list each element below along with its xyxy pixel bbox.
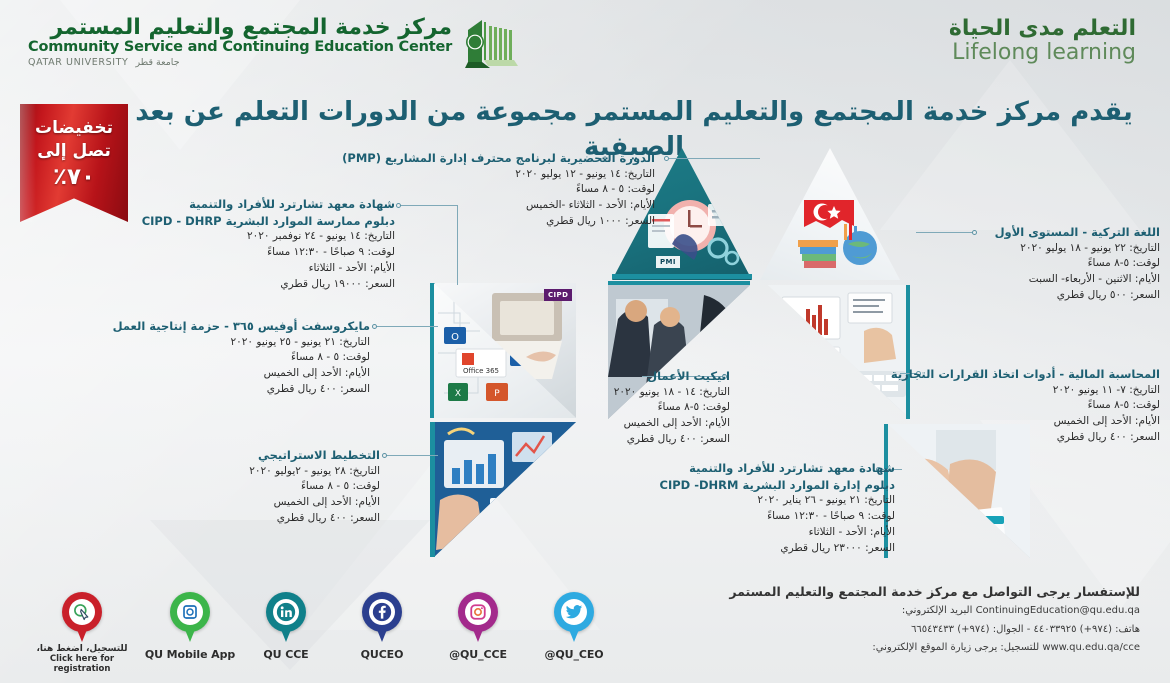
course-block-office365: مايكروسفت أوفيس ٣٦٥ - حزمة إنتاجية العمل… — [113, 318, 370, 398]
contact-email-label: البريد الإلكتروني: — [902, 605, 972, 616]
course-price: السعر: ٥٠٠ ريال قطري — [995, 288, 1160, 304]
social-label: @QU_CEO — [526, 648, 622, 661]
poster-root: مركز خدمة المجتمع والتعليم المستمر Commu… — [0, 0, 1170, 683]
social-twitter[interactable]: @QU_CEO — [526, 592, 622, 674]
logo-university-en: QATAR UNIVERSITY — [28, 57, 128, 68]
svg-text:O: O — [451, 332, 459, 343]
social-instagram[interactable]: @QU_CCE — [430, 592, 526, 674]
social-label: QU Mobile App — [142, 648, 238, 661]
linkedin-pin[interactable] — [266, 592, 306, 644]
course-title: شهادة معهد تشارترد للأفراد والتنمية — [660, 460, 895, 477]
course-date: التاريخ: ٢٨ يونيو - ٢يوليو ٢٠٢٠ — [249, 464, 380, 480]
course-block-cipd-dhrp: شهادة معهد تشارترد للأفراد والتنمية دبلو… — [142, 196, 395, 292]
social-facebook[interactable]: QUCEO — [334, 592, 430, 674]
etiquette-edge — [608, 281, 750, 285]
course-price: السعر: ٢٣٠٠٠ ريال قطري — [660, 541, 895, 557]
ribbon-text: تخفيضات تصل إلى ٧٠٪ — [20, 104, 128, 222]
course-title: اللغة التركية - المستوى الأول — [995, 224, 1160, 241]
pin-tail — [74, 622, 90, 642]
pin-tail — [566, 622, 582, 642]
facebook-icon — [369, 599, 395, 625]
click-cursor-icon — [69, 599, 95, 625]
logo-university: QATAR UNIVERSITY جامعة قطر — [28, 57, 452, 68]
course-title: مايكروسفت أوفيس ٣٦٥ - حزمة إنتاجية العمل — [113, 318, 370, 335]
social-label: QUCEO — [334, 648, 430, 661]
twitter-icon — [561, 599, 587, 625]
logo-english-name: Community Service and Continuing Educati… — [28, 39, 452, 56]
footer-contact: للإستفسار يرجى التواصل مع مركز خدمة المج… — [729, 582, 1140, 658]
contact-web-label: للتسجيل: يرجى زيارة الموقع الإلكتروني: — [872, 642, 1039, 653]
course-days: الأيام: الأحد إلى الخميس — [113, 366, 370, 382]
pmp-image-edge — [612, 274, 752, 279]
logo-university-ar: جامعة قطر — [135, 57, 179, 68]
social-mobile-app[interactable]: QU Mobile App — [142, 592, 238, 674]
course-title: الدورة التحضيرية لبرنامج محترف إدارة الم… — [342, 150, 655, 167]
course-price: السعر: ٤٠٠ ريال قطري — [614, 432, 730, 448]
ribbon-line-3: ٧٠٪ — [53, 164, 95, 190]
pin-tail — [182, 622, 198, 642]
course-image-turkish — [760, 148, 900, 280]
course-subtitle: دبلوم إدارة الموارد البشرية CIPD -DHRM — [660, 477, 895, 494]
course-title: شهادة معهد تشارترد للأفراد والتنمية — [142, 196, 395, 213]
lifelong-learning-tagline: التعلم مدى الحياة Lifelong learning — [949, 16, 1136, 65]
mobile-app-pin[interactable] — [170, 592, 210, 644]
course-date: التاريخ: ١٤ يونيو - ١٢ يوليو ٢٠٢٠ — [342, 167, 655, 183]
pin-tail — [470, 622, 486, 642]
course-date: التاريخ: ١٤ يونيو - ٢٤ نوفمبر ٢٠٢٠ — [142, 229, 395, 245]
pmi-badge: PMI — [656, 256, 680, 268]
registration-pin[interactable] — [62, 592, 102, 644]
course-date: التاريخ: ٢٢ يونيو - ١٨ يوليو ٢٠٢٠ — [995, 241, 1160, 257]
course-block-etiquette: اتيكيت الأعمال التاريخ: ١٤ - ١٨ يونيو ٢٠… — [614, 368, 730, 448]
svg-text:P: P — [494, 389, 500, 399]
lifelong-english: Lifelong learning — [949, 41, 1136, 65]
connector-dot-turkish — [972, 230, 977, 235]
social-label: @QU_CCE — [430, 648, 526, 661]
course-date: التاريخ: ٢١ يونيو - ٢٥ يونيو ٢٠٢٠ — [113, 335, 370, 351]
course-block-cipd-dhrm: شهادة معهد تشارترد للأفراد والتنمية دبلو… — [660, 460, 895, 556]
course-time: لوقت: ٩ صباحًا - ١٢:٣٠ مساءً — [142, 245, 395, 261]
ribbon-line-2: تصل إلى — [37, 141, 111, 161]
instagram-icon — [465, 599, 491, 625]
svg-text:Office 365: Office 365 — [463, 367, 499, 375]
course-image-finance — [768, 285, 910, 419]
contact-email[interactable]: ContinuingEducation@qu.edu.qa — [976, 605, 1140, 616]
registration-link[interactable]: للتسجيل، اضغط هنا، Click here for regist… — [22, 592, 142, 674]
course-image-strategic — [434, 422, 576, 557]
cipd-badge: CIPD — [544, 289, 572, 301]
instagram-pin[interactable] — [458, 592, 498, 644]
course-price: السعر: ٤٠٠ ريال قطري — [113, 382, 370, 398]
connector-office365 — [376, 326, 438, 327]
social-links: @QU_CEO @QU_CCE — [22, 592, 622, 674]
course-days: الأيام: الاثنين - الأربعاء- السبت — [995, 272, 1160, 288]
course-block-turkish: اللغة التركية - المستوى الأول التاريخ: ٢… — [995, 224, 1160, 304]
social-linkedin[interactable]: QU CCE — [238, 592, 334, 674]
qu-logo-icon — [462, 14, 520, 70]
course-time: لوقت: ٥ - ٨ مساءً — [113, 350, 370, 366]
course-time: لوقت: ٥-٨ مساءً — [995, 256, 1160, 272]
qu-cce-logo: مركز خدمة المجتمع والتعليم المستمر Commu… — [28, 14, 520, 70]
mobile-app-icon — [177, 599, 203, 625]
twitter-pin[interactable] — [554, 592, 594, 644]
course-subtitle: دبلوم ممارسة الموارد البشرية CIPD - DHRP — [142, 213, 395, 230]
cipd-badge: CIPD — [894, 530, 922, 542]
logo-arabic-name: مركز خدمة المجتمع والتعليم المستمر — [28, 16, 452, 39]
course-title: اتيكيت الأعمال — [614, 368, 730, 385]
course-time: لوقت: ٩ صباحًا - ١٢:٣٠ مساءً — [660, 509, 895, 525]
course-days: الأيام: الأحد إلى الخميس — [891, 414, 1160, 430]
svg-text:X: X — [455, 389, 461, 399]
course-time: لوقت: ٥-٨ مساءً — [891, 398, 1160, 414]
course-days: الأيام: الأحد إلى الخميس — [249, 495, 380, 511]
course-days: الأيام: الأحد - الثلاثاء — [142, 261, 395, 277]
connector-pmp — [668, 158, 760, 159]
contact-web-row: www.qu.edu.qa/cce للتسجيل: يرجى زيارة ال… — [729, 639, 1140, 658]
registration-label-en: Click here for registration — [22, 654, 142, 674]
logo-text: مركز خدمة المجتمع والتعليم المستمر Commu… — [28, 16, 452, 68]
course-days: الأيام: الأحد إلى الخميس — [614, 416, 730, 432]
pin-tail — [374, 622, 390, 642]
discount-ribbon: تخفيضات تصل إلى ٧٠٪ — [20, 104, 128, 222]
course-block-strategic: التخطيط الاستراتيجي التاريخ: ٢٨ يونيو - … — [249, 447, 380, 527]
connector-dot-strategic — [382, 453, 387, 458]
pin-tail — [278, 622, 294, 642]
course-price: السعر: ٤٠٠ ريال قطري — [249, 511, 380, 527]
course-time: لوقت: ٥ - ٨ مساءً — [249, 479, 380, 495]
course-days: الأيام: الأحد - الثلاثاء — [660, 525, 895, 541]
course-block-finance: المحاسبة المالية - أدوات اتخاذ القرارات … — [891, 366, 1160, 446]
strategic-edge — [430, 422, 435, 557]
connector-strategic — [386, 455, 438, 456]
connector-turkish — [916, 232, 974, 233]
course-date: التاريخ: ٧- ١١ يونيو ٢٠٢٠ — [891, 383, 1160, 399]
ribbon-line-1: تخفيضات — [35, 118, 113, 138]
course-date: التاريخ: ١٤ - ١٨ يونيو ٢٠٢٠ — [614, 385, 730, 401]
course-price: السعر: ١٩٠٠٠ ريال قطري — [142, 277, 395, 293]
contact-email-row: ContinuingEducation@qu.edu.qa البريد الإ… — [729, 602, 1140, 621]
registration-label-ar: للتسجيل، اضغط هنا، — [22, 644, 142, 654]
course-date: التاريخ: ٢١ يونيو - ٢٦ يناير ٢٠٢٠ — [660, 493, 895, 509]
linkedin-icon — [273, 599, 299, 625]
contact-website[interactable]: www.qu.edu.qa/cce — [1042, 642, 1140, 653]
course-title: التخطيط الاستراتيجي — [249, 447, 380, 464]
contact-phone-row: هاتف: (٩٧٤+) ٤٤٠٣٣٩٢٥ - الجوال: (٩٧٤+) ٦… — [729, 621, 1140, 640]
contact-heading: للإستفسار يرجى التواصل مع مركز خدمة المج… — [729, 582, 1140, 602]
connector-dot-pmp — [664, 156, 669, 161]
course-price: السعر: ٤٠٠ ريال قطري — [891, 430, 1160, 446]
connector-dot-office365 — [372, 324, 377, 329]
social-label: QU CCE — [238, 648, 334, 661]
course-title: المحاسبة المالية - أدوات اتخاذ القرارات … — [891, 366, 1160, 383]
facebook-pin[interactable] — [362, 592, 402, 644]
lifelong-arabic: التعلم مدى الحياة — [949, 16, 1136, 41]
course-time: لوقت: ٥-٨ مساءً — [614, 400, 730, 416]
